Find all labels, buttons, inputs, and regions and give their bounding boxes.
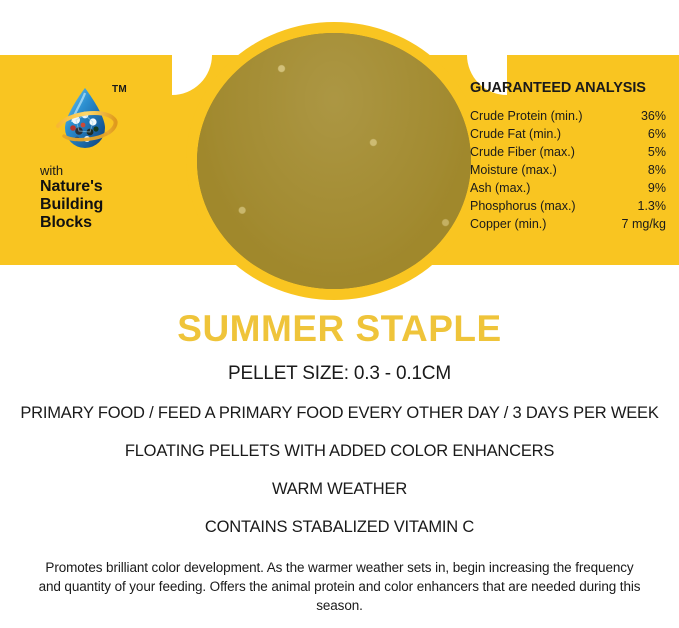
analysis-row: Crude Fat (min.) 6% [470,125,666,143]
feature-line-4: CONTAINS STABALIZED VITAMIN C [0,518,679,537]
trademark-symbol: TM [112,84,127,95]
analysis-value: 8% [648,161,666,179]
product-info-section: SUMMER STAPLE PELLET SIZE: 0.3 - 0.1CM P… [0,300,679,615]
product-label: TM with Nature's Building Blocks GUARANT… [0,0,679,628]
guaranteed-analysis-panel: GUARANTEED ANALYSIS Crude Protein (min.)… [470,80,666,233]
brand-logo: TM with Nature's Building Blocks [40,82,160,232]
product-title: SUMMER STAPLE [0,310,679,347]
feature-line-2: FLOATING PELLETS WITH ADDED COLOR ENHANC… [0,442,679,461]
hero-pellets-image [197,33,471,289]
analysis-value: 36% [641,107,666,125]
analysis-row: Copper (min.) 7 mg/kg [470,215,666,233]
pellet-texture [197,33,471,289]
analysis-value: 9% [648,179,666,197]
analysis-row: Crude Protein (min.) 36% [470,107,666,125]
analysis-row: Crude Fiber (max.) 5% [470,143,666,161]
feature-line-3: WARM WEATHER [0,480,679,499]
analysis-label: Ash (max.) [470,179,530,197]
analysis-label: Phosphorus (max.) [470,197,576,215]
analysis-value: 7 mg/kg [622,215,666,233]
analysis-label: Crude Protein (min.) [470,107,583,125]
analysis-row: Phosphorus (max.) 1.3% [470,197,666,215]
brand-with-label: with [40,164,160,178]
analysis-value: 5% [648,143,666,161]
pellet-size-text: PELLET SIZE: 0.3 - 0.1CM [0,363,679,385]
analysis-label: Crude Fat (min.) [470,125,561,143]
analysis-label: Copper (min.) [470,215,546,233]
droplet-logo-mark: TM [52,82,130,160]
analysis-value: 1.3% [638,197,667,215]
analysis-row: Ash (max.) 9% [470,179,666,197]
analysis-label: Crude Fiber (max.) [470,143,575,161]
feature-line-1: PRIMARY FOOD / FEED A PRIMARY FOOD EVERY… [0,404,679,423]
analysis-row: Moisture (max.) 8% [470,161,666,179]
brand-name-line-2: Building [40,196,160,214]
analysis-label: Moisture (max.) [470,161,557,179]
brand-name-line-1: Nature's [40,178,160,196]
brand-name-line-3: Blocks [40,214,160,232]
brand-logo-text: with Nature's Building Blocks [40,164,160,232]
analysis-value: 6% [648,125,666,143]
product-description: Promotes brilliant color development. As… [0,558,679,615]
guaranteed-analysis-title: GUARANTEED ANALYSIS [470,80,666,96]
